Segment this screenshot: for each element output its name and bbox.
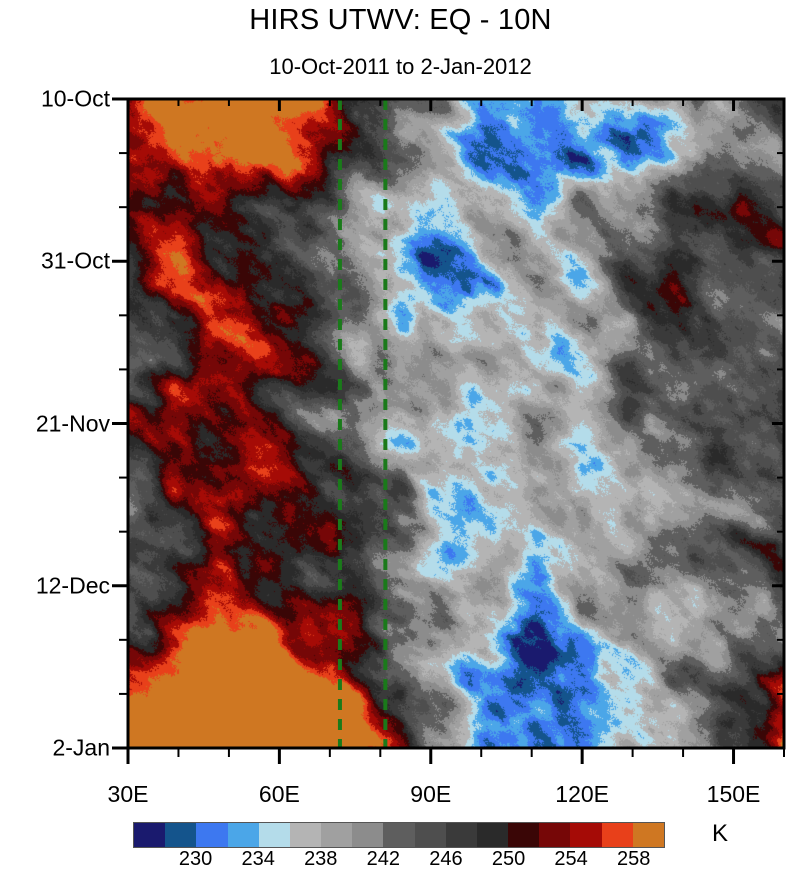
y-tick-label-31-oct: 31-Oct (0, 248, 118, 275)
colorbar-cell-6 (321, 823, 352, 847)
colorbar-tick-254: 254 (554, 848, 587, 871)
x-tick-label-90e: 90E (410, 781, 451, 808)
x-tick-label-150e: 150E (707, 781, 761, 808)
y-tick-label-10-oct: 10-Oct (0, 86, 118, 113)
colorbar-cell-11 (477, 823, 508, 847)
colorbar-tick-246: 246 (429, 848, 462, 871)
colorbar-cell-7 (352, 823, 383, 847)
colorbar-tick-234: 234 (241, 848, 274, 871)
y-tick-label-2-jan: 2-Jan (0, 735, 118, 762)
chart-root: HIRS UTWV: EQ - 10N 10-Oct-2011 to 2-Jan… (0, 0, 801, 864)
colorbar-tick-242: 242 (367, 848, 400, 871)
colorbar-cell-9 (415, 823, 446, 847)
colorbar-tick-250: 250 (492, 848, 525, 871)
chart-title: HIRS UTWV: EQ - 10N (0, 4, 801, 37)
y-tick-label-21-nov: 21-Nov (0, 410, 118, 437)
heatmap-field (128, 99, 784, 748)
colorbar-unit-label: K (712, 820, 728, 848)
y-axis-labels: 10-Oct31-Oct21-Nov12-Dec2-Jan (0, 0, 118, 864)
x-tick-label-30e: 30E (108, 781, 149, 808)
colorbar-tick-238: 238 (304, 848, 337, 871)
colorbar-cell-2 (196, 823, 227, 847)
colorbar-cell-0 (134, 823, 165, 847)
colorbar-cell-4 (259, 823, 290, 847)
colorbar-cell-15 (602, 823, 633, 847)
colorbar (133, 822, 665, 848)
colorbar-cell-5 (290, 823, 321, 847)
x-tick-label-60e: 60E (259, 781, 300, 808)
colorbar-tick-258: 258 (617, 848, 650, 871)
colorbar-cell-10 (446, 823, 477, 847)
colorbar-cell-13 (539, 823, 570, 847)
colorbar-cell-1 (165, 823, 196, 847)
colorbar-tick-230: 230 (179, 848, 212, 871)
colorbar-cell-12 (508, 823, 539, 847)
colorbar-cell-16 (633, 823, 664, 847)
colorbar-cell-3 (228, 823, 259, 847)
colorbar-tick-labels: 230234238242246250254258 (0, 848, 801, 870)
heatmap-plot-area (128, 99, 784, 748)
chart-subtitle: 10-Oct-2011 to 2-Jan-2012 (0, 54, 801, 80)
colorbar-cell-8 (383, 823, 414, 847)
colorbar-cell-14 (570, 823, 601, 847)
y-tick-label-12-dec: 12-Dec (0, 572, 118, 599)
x-tick-label-120e: 120E (555, 781, 609, 808)
